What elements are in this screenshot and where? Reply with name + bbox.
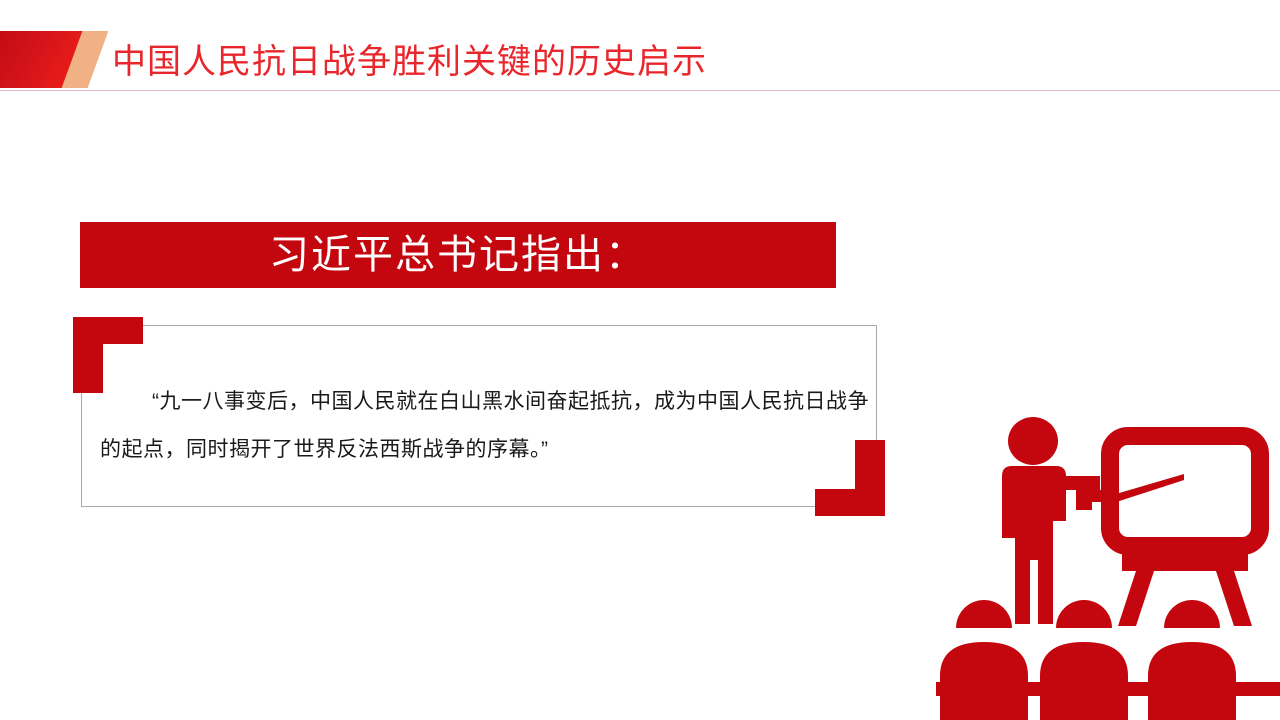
- audience-head-3: [1164, 600, 1220, 628]
- easel-leg-left: [1118, 571, 1154, 626]
- easel-leg-right: [1216, 571, 1252, 626]
- header-decoration: [0, 31, 112, 88]
- classroom-lecture-icon: [936, 414, 1280, 720]
- presenter-leg-left: [1015, 554, 1030, 624]
- page-title: 中国人民抗日战争胜利关键的历史启示: [112, 40, 707, 84]
- header-tan-stripe: [62, 31, 109, 88]
- presenter-head: [1008, 417, 1058, 465]
- audience-body-3-lower: [1154, 696, 1236, 720]
- section-banner: 习近平总书记指出：: [80, 222, 836, 288]
- bench-bar: [936, 682, 1280, 696]
- header-red-shape: [0, 31, 100, 88]
- quote-text: “九一八事变后，中国人民就在白山黑水间奋起抵抗，成为中国人民抗日战争的起点，同时…: [100, 378, 870, 474]
- presenter-arm-left: [1002, 476, 1016, 538]
- slide-canvas: 中国人民抗日战争胜利关键的历史启示 习近平总书记指出： “九一八事变后，中国人民…: [0, 0, 1280, 720]
- bracket-arm-vertical: [73, 317, 103, 393]
- presenter-leg-right: [1038, 554, 1053, 624]
- audience-head-2: [1056, 600, 1112, 628]
- easel-crossbar: [1122, 551, 1248, 571]
- audience-body-2-lower: [1046, 696, 1128, 720]
- audience-head-1: [956, 600, 1012, 628]
- header-divider: [0, 90, 1280, 91]
- corner-bracket-bottom-right: [815, 440, 885, 516]
- section-banner-label: 习近平总书记指出：: [269, 232, 647, 278]
- bracket-arm-vertical: [855, 440, 885, 516]
- audience-body-1-lower: [946, 696, 1028, 720]
- presenter-body: [1015, 476, 1053, 560]
